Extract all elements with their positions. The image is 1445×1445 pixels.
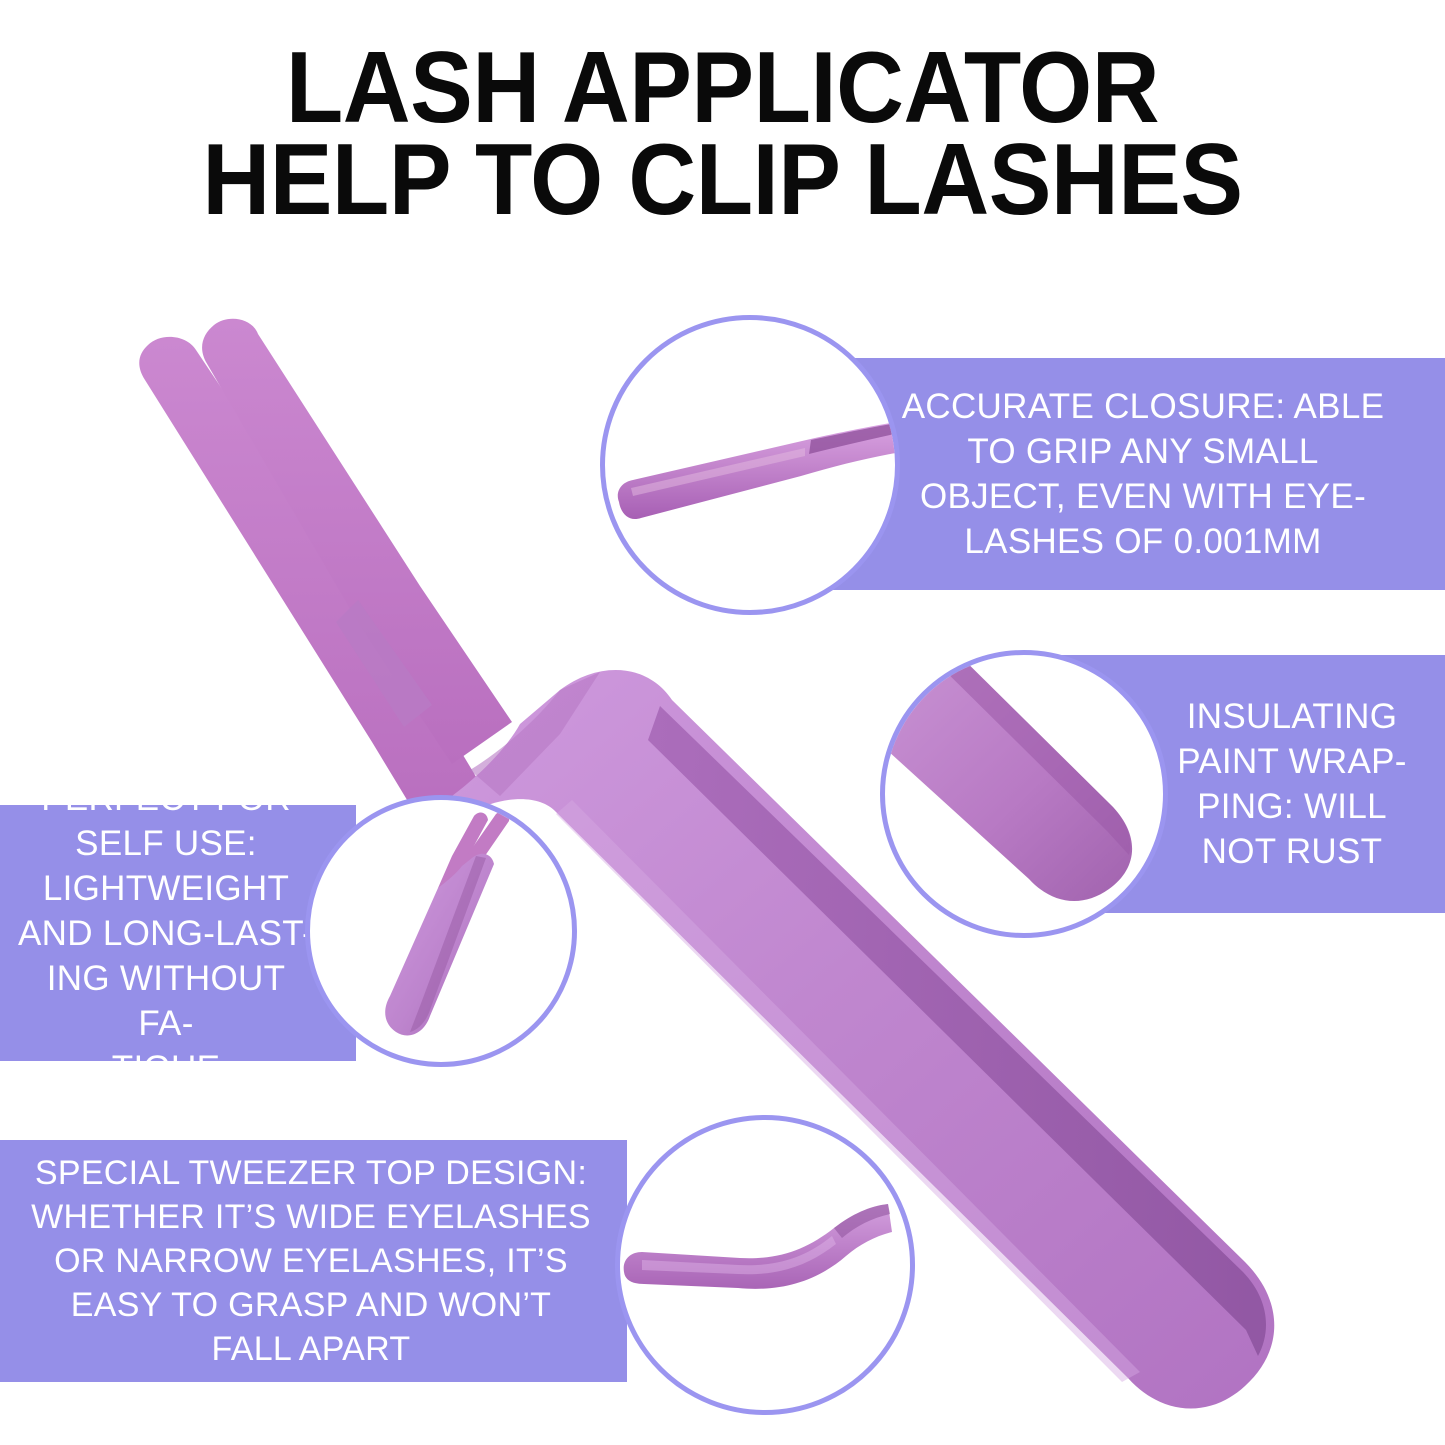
callout-banner-self-use: PERFECT FOR SELF USE: LIGHTWEIGHT AND LO… (0, 805, 356, 1061)
callout-banner-tweezer-top: SPECIAL TWEEZER TOP DESIGN: WHETHER IT’S… (0, 1140, 627, 1382)
title-line-2: HELP TO CLIP LASHES (51, 134, 1395, 226)
inset-closeup-curved-tip (615, 1115, 915, 1415)
callout-banner-accurate-closure: ACCURATE CLOSURE: ABLE TO GRIP ANY SMALL… (830, 358, 1445, 590)
inset-closeup-full-tool (305, 795, 577, 1067)
page-title: LASH APPLICATOR HELP TO CLIP LASHES (0, 42, 1445, 226)
callout-text-self-use: PERFECT FOR SELF USE: LIGHTWEIGHT AND LO… (0, 776, 316, 1091)
title-line-1: LASH APPLICATOR (51, 42, 1395, 134)
inset-closeup-handle-end (880, 650, 1168, 938)
callout-text-accurate-closure: ACCURATE CLOSURE: ABLE TO GRIP ANY SMALL… (893, 384, 1445, 564)
inset-closeup-tip-closure (600, 315, 900, 615)
callout-text-insulating-paint: INSULATING PAINT WRAP- PING: WILL NOT RU… (1161, 694, 1445, 874)
callout-text-tweezer-top: SPECIAL TWEEZER TOP DESIGN: WHETHER IT’S… (0, 1151, 616, 1371)
product-infographic: LASH APPLICATOR HELP TO CLIP LASHES (0, 0, 1445, 1445)
